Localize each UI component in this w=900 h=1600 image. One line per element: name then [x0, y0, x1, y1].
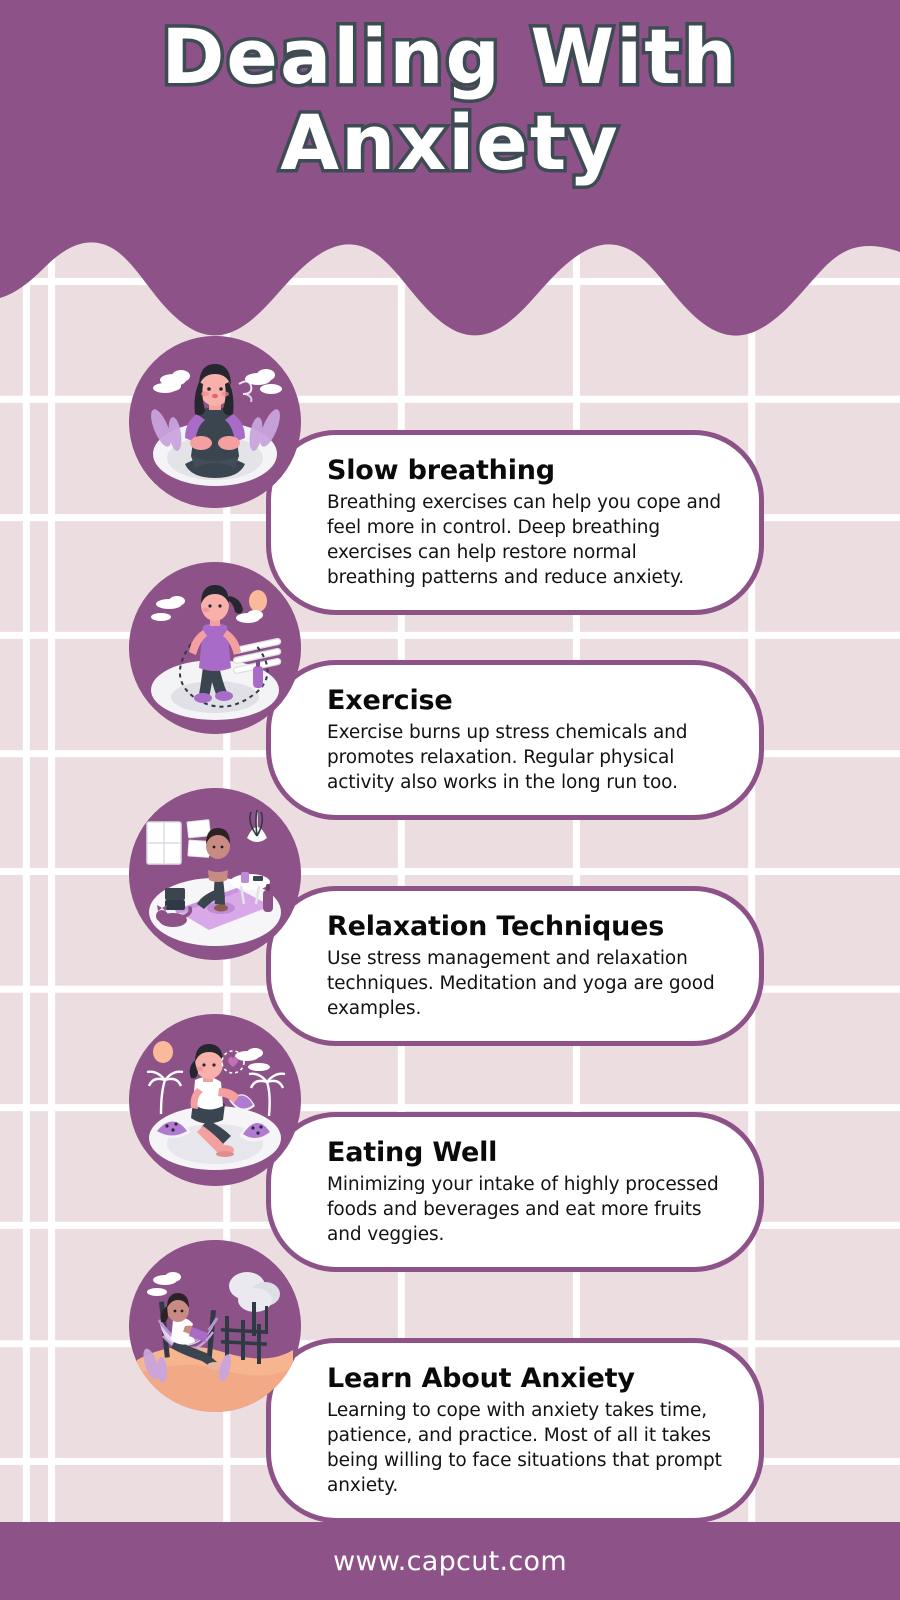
tip-title: Learn About Anxiety — [327, 1361, 725, 1396]
tip-title: Slow breathing — [327, 453, 725, 488]
tip-title: Exercise — [327, 683, 725, 718]
tip-card-4[interactable]: Eating Well Minimizing your intake of hi… — [266, 1112, 764, 1272]
meditation-breathing-icon — [129, 336, 301, 508]
yoga-pose-icon — [129, 788, 301, 960]
tip-body: Use stress management and relaxation tec… — [327, 946, 725, 1021]
tip-body: Learning to cope with anxiety takes time… — [327, 1398, 725, 1498]
tip-card-3[interactable]: Relaxation Techniques Use stress managem… — [266, 886, 764, 1046]
jump-rope-exercise-icon — [129, 562, 301, 734]
reading-hammock-icon — [129, 1240, 301, 1412]
header-wave-shape — [0, 0, 900, 336]
tip-card-1[interactable]: Slow breathing Breathing exercises can h… — [266, 430, 764, 615]
header-banner — [0, 0, 900, 345]
tip-title: Relaxation Techniques — [327, 909, 725, 944]
eating-watermelon-icon — [129, 1014, 301, 1186]
tip-card-2[interactable]: Exercise Exercise burns up stress chemic… — [266, 660, 764, 820]
infographic-poster: Dealing With Anxiety — [0, 0, 900, 1600]
footer-bar: www.capcut.com — [0, 1522, 900, 1600]
tip-body: Breathing exercises can help you cope an… — [327, 490, 725, 590]
website-link[interactable]: www.capcut.com — [333, 1546, 567, 1577]
tip-title: Eating Well — [327, 1135, 725, 1170]
tip-card-5[interactable]: Learn About Anxiety Learning to cope wit… — [266, 1338, 764, 1523]
tip-body: Exercise burns up stress chemicals and p… — [327, 720, 725, 795]
tip-body: Minimizing your intake of highly process… — [327, 1172, 725, 1247]
